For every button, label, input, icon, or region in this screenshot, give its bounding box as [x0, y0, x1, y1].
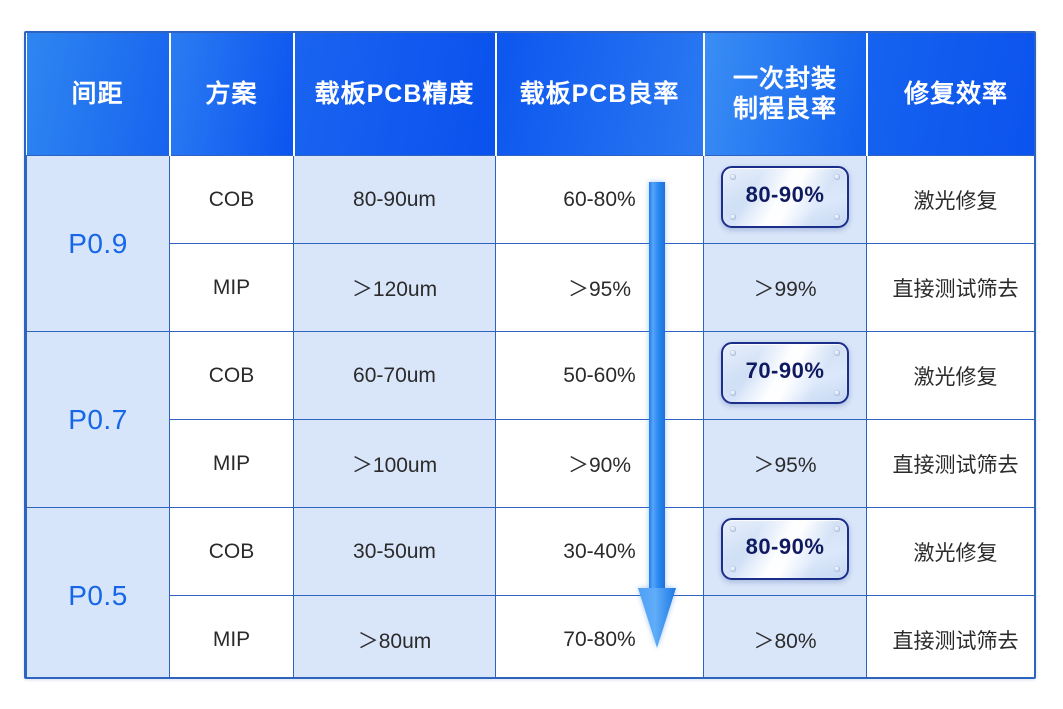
pcb-accuracy-cell: ＞100um: [294, 420, 496, 508]
table-row: P0.9 COB 80-90um 60-80% 80-90% 激光修复: [27, 156, 1037, 244]
comparison-table: 间距 方案 载板PCB精度 载板PCB良率 一次封装 制程良率: [26, 33, 1036, 679]
pcb-accuracy-cell: 30-50um: [294, 508, 496, 596]
scheme-cell: COB: [170, 508, 294, 596]
package-yield-cell: 70-90%: [704, 332, 867, 420]
column-header-repair-efficiency: 修复效率: [867, 33, 1037, 156]
pitch-group-cell: P0.9: [27, 156, 170, 332]
pcb-yield-cell: ＞90%: [496, 420, 704, 508]
package-yield-cell: 80-90%: [704, 508, 867, 596]
comparison-table-container: 间距 方案 载板PCB精度 载板PCB良率 一次封装 制程良率: [24, 31, 1036, 679]
table-row: MIP ＞100um ＞90% ＞95% 直接测试筛去: [27, 420, 1037, 508]
package-yield-badge: 80-90%: [721, 518, 849, 580]
header-row: 间距 方案 载板PCB精度 载板PCB良率 一次封装 制程良率: [27, 33, 1037, 156]
package-yield-cell: ＞95%: [704, 420, 867, 508]
repair-efficiency-cell: 激光修复: [867, 156, 1037, 244]
table-figure: 间距 方案 载板PCB精度 载板PCB良率 一次封装 制程良率: [0, 0, 1063, 709]
pcb-accuracy-cell: ＞120um: [294, 244, 496, 332]
pcb-yield-cell: 60-80%: [496, 156, 704, 244]
table-row: P0.7 COB 60-70um 50-60% 70-90% 激光修复: [27, 332, 1037, 420]
repair-efficiency-cell: 激光修复: [867, 332, 1037, 420]
package-yield-cell: 80-90%: [704, 156, 867, 244]
column-header-pcb-accuracy: 载板PCB精度: [294, 33, 496, 156]
package-yield-cell: ＞80%: [704, 596, 867, 680]
column-header-package-yield-line2: 制程良率: [733, 95, 837, 123]
column-header-package-yield: 一次封装 制程良率: [704, 33, 867, 156]
scheme-cell: COB: [170, 332, 294, 420]
pcb-accuracy-cell: 60-70um: [294, 332, 496, 420]
table-header: 间距 方案 载板PCB精度 载板PCB良率 一次封装 制程良率: [27, 33, 1037, 156]
column-header-repair-efficiency-label: 修复效率: [904, 80, 1008, 108]
scheme-cell: MIP: [170, 596, 294, 680]
column-header-pcb-accuracy-label: 载板PCB精度: [315, 80, 475, 108]
package-yield-badge: 80-90%: [721, 166, 849, 228]
pcb-yield-cell: 50-60%: [496, 332, 704, 420]
column-header-scheme-label: 方案: [205, 80, 257, 108]
table-row: P0.5 COB 30-50um 30-40% 80-90% 激光修复: [27, 508, 1037, 596]
table-row: MIP ＞80um 70-80% ＞80% 直接测试筛去: [27, 596, 1037, 680]
pcb-accuracy-cell: ＞80um: [294, 596, 496, 680]
column-header-pitch-label: 间距: [71, 80, 123, 108]
repair-efficiency-cell: 激光修复: [867, 508, 1037, 596]
repair-efficiency-cell: 直接测试筛去: [867, 244, 1037, 332]
package-yield-badge-label: 80-90%: [723, 168, 847, 222]
package-yield-badge-label: 70-90%: [723, 344, 847, 398]
column-header-pcb-yield: 载板PCB良率: [496, 33, 704, 156]
pcb-yield-cell: 30-40%: [496, 508, 704, 596]
table-row: MIP ＞120um ＞95% ＞99% 直接测试筛去: [27, 244, 1037, 332]
column-header-pcb-yield-label: 载板PCB良率: [520, 80, 680, 108]
scheme-cell: MIP: [170, 244, 294, 332]
column-header-scheme: 方案: [170, 33, 294, 156]
pcb-yield-cell: 70-80%: [496, 596, 704, 680]
repair-efficiency-cell: 直接测试筛去: [867, 420, 1037, 508]
pcb-accuracy-cell: 80-90um: [294, 156, 496, 244]
repair-efficiency-cell: 直接测试筛去: [867, 596, 1037, 680]
column-header-pitch: 间距: [27, 33, 170, 156]
scheme-cell: COB: [170, 156, 294, 244]
package-yield-badge: 70-90%: [721, 342, 849, 404]
package-yield-badge-label: 80-90%: [723, 520, 847, 574]
table-body: P0.9 COB 80-90um 60-80% 80-90% 激光修复: [27, 156, 1037, 680]
pitch-group-cell: P0.7: [27, 332, 170, 508]
column-header-package-yield-line1: 一次封装: [733, 65, 837, 93]
scheme-cell: MIP: [170, 420, 294, 508]
pcb-yield-cell: ＞95%: [496, 244, 704, 332]
package-yield-cell: ＞99%: [704, 244, 867, 332]
pitch-group-cell: P0.5: [27, 508, 170, 680]
